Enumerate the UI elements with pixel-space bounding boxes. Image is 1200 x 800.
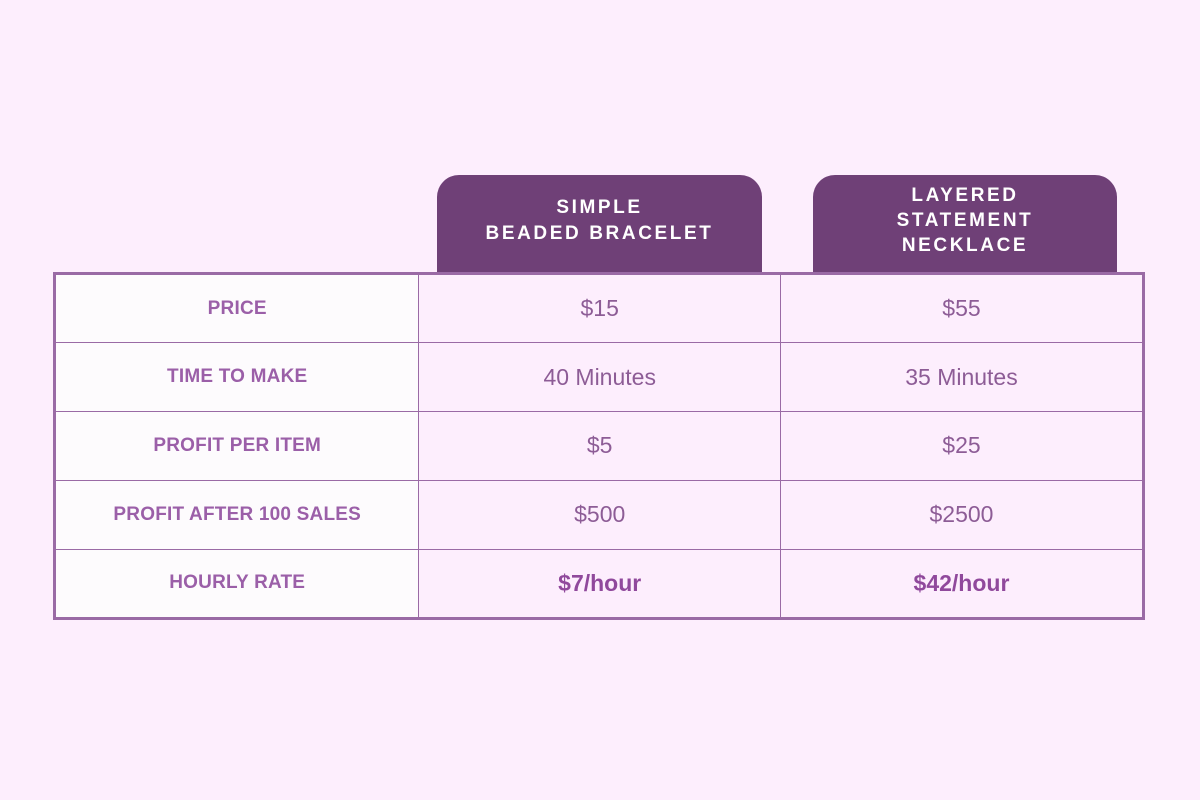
cell-hourly-rate-simple-beaded-bracelet: $7/hour [419, 549, 781, 617]
cell-profit-per-item-layered-statement-necklace: $25 [780, 412, 1142, 481]
cell-hourly-rate-layered-statement-necklace: $42/hour [780, 549, 1142, 617]
header-spacer [53, 175, 418, 272]
column-header-title: SIMPLE BEADED BRACELET [486, 195, 714, 245]
table-row: PRICE $15 $55 [56, 275, 1142, 343]
cell-time-to-make-simple-beaded-bracelet: 40 Minutes [419, 343, 781, 412]
table-row: PROFIT AFTER 100 SALES $500 $2500 [56, 480, 1142, 549]
cell-price-simple-beaded-bracelet: $15 [419, 275, 781, 343]
table-row: TIME TO MAKE 40 Minutes 35 Minutes [56, 343, 1142, 412]
cell-profit-after-100-sales-layered-statement-necklace: $2500 [780, 480, 1142, 549]
cell-time-to-make-layered-statement-necklace: 35 Minutes [780, 343, 1142, 412]
cell-profit-after-100-sales-simple-beaded-bracelet: $500 [419, 480, 781, 549]
row-label-profit-after-100-sales: PROFIT AFTER 100 SALES [56, 480, 419, 549]
column-header-tab-layered-statement-necklace: LAYERED STATEMENT NECKLACE [813, 175, 1117, 272]
product-comparison-table: SIMPLE BEADED BRACELET LAYERED STATEMENT… [0, 0, 1200, 800]
column-header-tab-simple-beaded-bracelet: SIMPLE BEADED BRACELET [437, 175, 762, 272]
cell-price-layered-statement-necklace: $55 [780, 275, 1142, 343]
comparison-table-body: PRICE $15 $55 TIME TO MAKE 40 Minutes 35… [53, 272, 1145, 620]
table-row: PROFIT PER ITEM $5 $25 [56, 412, 1142, 481]
row-label-price: PRICE [56, 275, 419, 343]
row-label-profit-per-item: PROFIT PER ITEM [56, 412, 419, 481]
column-header-title: LAYERED STATEMENT NECKLACE [897, 183, 1034, 258]
cell-profit-per-item-simple-beaded-bracelet: $5 [419, 412, 781, 481]
table-row: HOURLY RATE $7/hour $42/hour [56, 549, 1142, 617]
column-header-tab-row: SIMPLE BEADED BRACELET LAYERED STATEMENT… [53, 175, 1145, 272]
row-label-hourly-rate: HOURLY RATE [56, 549, 419, 617]
comparison-table: PRICE $15 $55 TIME TO MAKE 40 Minutes 35… [56, 275, 1142, 617]
row-label-time-to-make: TIME TO MAKE [56, 343, 419, 412]
